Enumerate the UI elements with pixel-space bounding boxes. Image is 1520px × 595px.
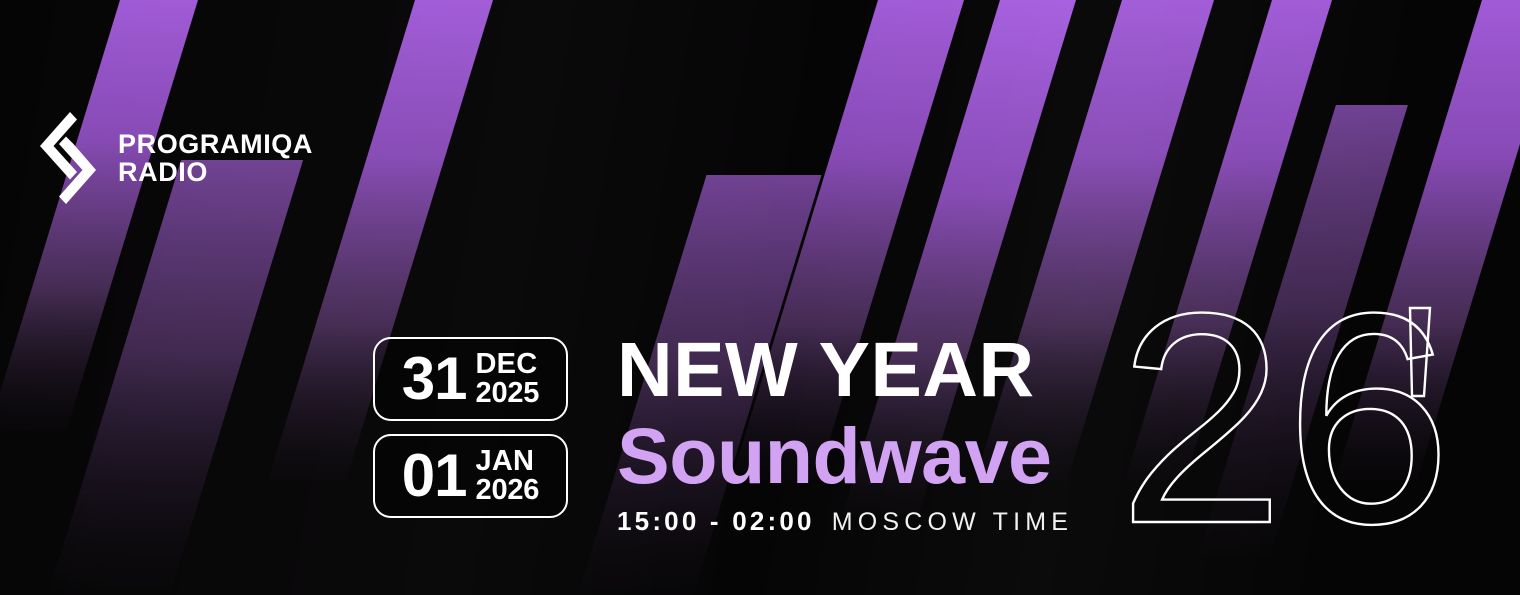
double-chevron-logo-icon — [40, 112, 96, 204]
event-headline: NEW YEAR Soundwave 15:00 - 02:00 MOSCOW … — [617, 332, 1073, 537]
event-time-row: 15:00 - 02:00 MOSCOW TIME — [617, 506, 1073, 537]
date-month-year: JAN 2026 — [476, 447, 540, 505]
date-year: 2026 — [476, 476, 540, 505]
brand-wordmark: PROGRAMIQA RADIO — [118, 130, 313, 186]
event-date-list: 31 DEC 2025 01 JAN 2026 — [373, 337, 568, 518]
new-year-event-banner: PROGRAMIQA RADIO 31 DEC 2025 01 JAN 2026… — [0, 0, 1520, 595]
brand-logo[interactable]: PROGRAMIQA RADIO — [40, 112, 313, 204]
date-month: JAN — [476, 447, 535, 476]
event-timezone: MOSCOW TIME — [832, 508, 1073, 537]
date-month-year: DEC 2025 — [476, 350, 540, 408]
date-year: 2025 — [476, 379, 540, 408]
date-day: 01 — [402, 448, 467, 503]
date-day: 31 — [402, 351, 467, 406]
date-chip-start[interactable]: 31 DEC 2025 — [373, 337, 568, 421]
date-month: DEC — [476, 350, 538, 379]
event-title-secondary: Soundwave — [617, 413, 1073, 498]
event-time-range: 15:00 - 02:00 — [617, 506, 815, 537]
brand-name-line1: PROGRAMIQA — [118, 130, 313, 158]
brand-name-line2: RADIO — [118, 158, 313, 186]
event-title-primary: NEW YEAR — [617, 332, 1073, 409]
date-chip-end[interactable]: 01 JAN 2026 — [373, 434, 568, 518]
